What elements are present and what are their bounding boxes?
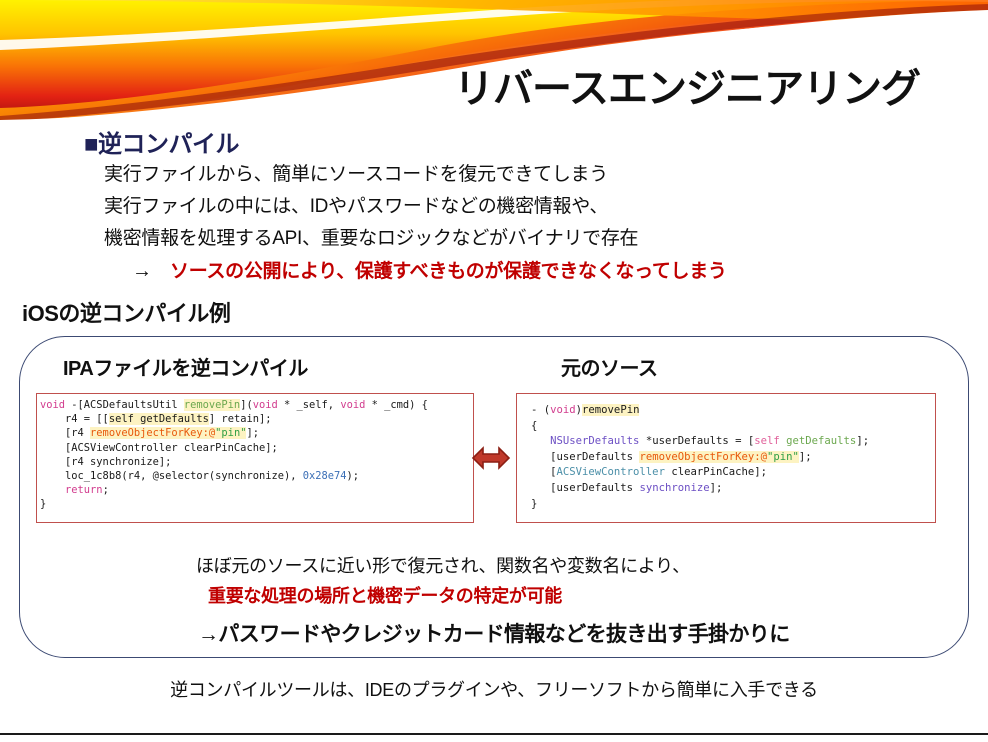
section-heading-ios-example: iOSの逆コンパイル例	[22, 296, 230, 328]
code-block-original: - (void)removePin{ NSUserDefaults *userD…	[516, 393, 936, 523]
code-line: [r4 synchronize];	[40, 455, 471, 469]
body-line: 機密情報を処理するAPI、重要なロジックなどがバイナリで存在	[104, 223, 638, 250]
column-title-decompiled: IPAファイルを逆コンパイル	[63, 352, 308, 381]
callout-row: → ソースの公開により、保護すべきものが保護できなくなってしまう	[132, 256, 727, 283]
code-line: [r4 removeObjectForKey:@"pin"];	[40, 426, 471, 440]
code-line: [userDefaults removeObjectForKey:@"pin"]…	[531, 450, 933, 466]
footer-note: 逆コンパイルツールは、IDEのプラグインや、フリーソフトから簡単に入手できる	[0, 676, 988, 702]
conclusion-line-result: →パスワードやクレジットカード情報などを抜き出す手掛かりに	[198, 618, 790, 648]
code-line: r4 = [[self getDefaults] retain];	[40, 412, 471, 426]
body-line: 実行ファイルから、簡単にソースコードを復元できてしまう	[104, 159, 608, 186]
code-line: [userDefaults synchronize];	[531, 481, 933, 497]
section-heading-decompile: ■逆コンパイル	[84, 124, 239, 159]
code-line: NSUserDefaults *userDefaults = [self get…	[531, 434, 933, 450]
code-line: loc_1c8b8(r4, @selector(synchronize), 0x…	[40, 469, 471, 483]
code-line: {	[531, 419, 933, 435]
callout-text: ソースの公開により、保護すべきものが保護できなくなってしまう	[170, 256, 727, 283]
arrow-right-icon: →	[132, 260, 152, 283]
code-line: return;	[40, 483, 471, 497]
code-line: }	[531, 497, 933, 513]
body-line: 実行ファイルの中には、IDやパスワードなどの機密情報や、	[104, 191, 608, 218]
bottom-rule	[0, 733, 988, 735]
code-line: }	[40, 497, 471, 511]
conclusion-line-emphasis: 重要な処理の場所と機密データの特定が可能	[208, 582, 562, 608]
conclusion-line: ほぼ元のソースに近い形で復元され、関数名や変数名により、	[196, 552, 690, 578]
page-title: リバースエンジニアリング	[0, 56, 920, 114]
code-line: - (void)removePin	[531, 403, 933, 419]
column-title-original: 元のソース	[561, 352, 658, 381]
code-line: [ACSViewController clearPinCache];	[40, 441, 471, 455]
code-block-decompiled: void -[ACSDefaultsUtil removePin](void *…	[36, 393, 474, 523]
double-arrow-icon	[470, 437, 512, 479]
code-line: void -[ACSDefaultsUtil removePin](void *…	[40, 398, 471, 412]
code-line: [ACSViewController clearPinCache];	[531, 465, 933, 481]
